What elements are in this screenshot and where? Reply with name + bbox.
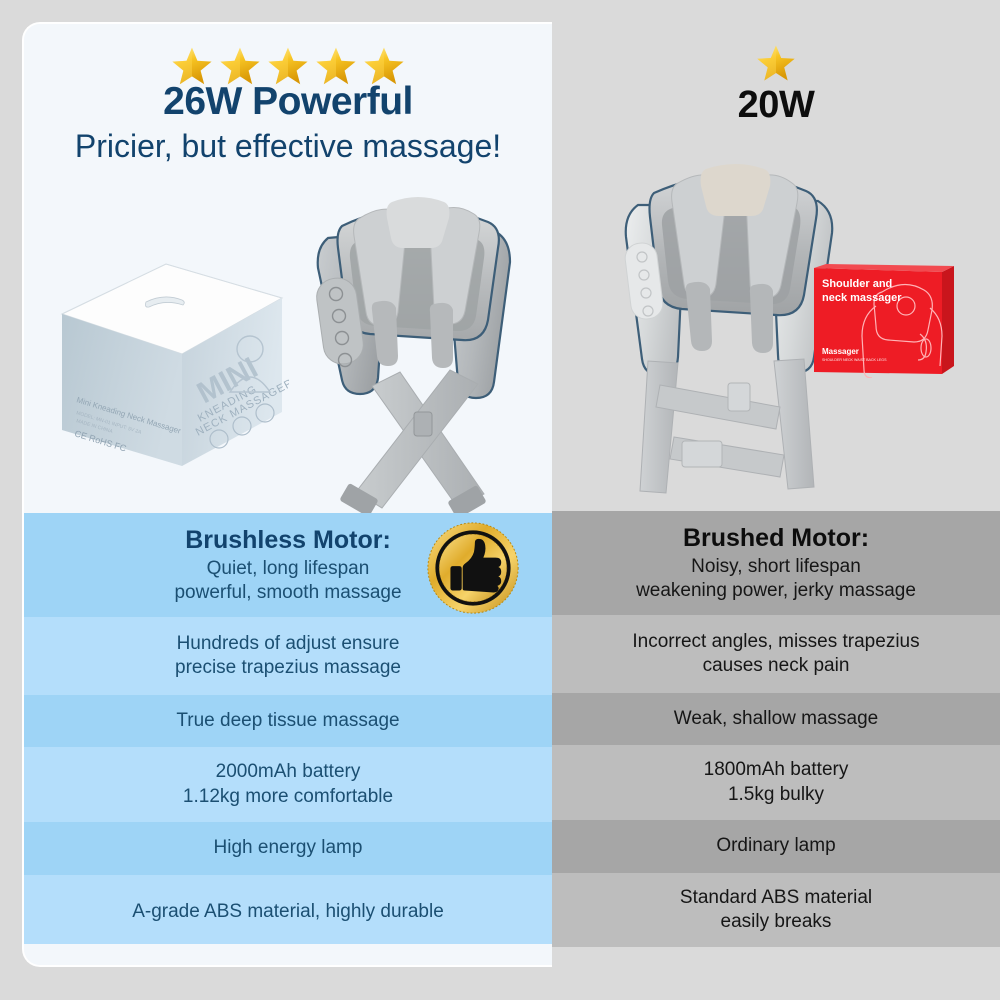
left-product-card: 26W Powerful Pricier, but effective mass… [22, 22, 552, 967]
left-massager-device [264, 174, 552, 514]
left-power-title: 26W Powerful [24, 80, 552, 124]
table-row: 1800mAh battery 1.5kg bulky [552, 745, 1000, 820]
row-line: powerful, smooth massage [174, 581, 401, 605]
right-retail-box: Shoulder and neck massager Massager SHOU… [810, 262, 958, 378]
table-row: Ordinary lamp [552, 820, 1000, 873]
row-line: Ordinary lamp [716, 834, 835, 858]
row-line: High energy lamp [214, 836, 363, 860]
row-line: weakening power, jerky massage [636, 579, 916, 603]
left-product-column: 26W Powerful Pricier, but effective mass… [0, 0, 552, 1000]
right-hero-area: 20W [552, 22, 1000, 511]
left-hero-area: 26W Powerful Pricier, but effective mass… [24, 24, 552, 513]
row-line: Hundreds of adjust ensure [177, 632, 400, 656]
red-box-footer: Massager [822, 347, 859, 357]
table-row: A-grade ABS material, highly durable [24, 875, 552, 949]
row-line: 1.5kg bulky [728, 783, 824, 807]
row-line: Standard ABS material [680, 886, 872, 910]
right-feature-table: Brushed Motor: Noisy, short lifespan wea… [552, 511, 1000, 947]
right-power-title: 20W [552, 84, 1000, 127]
left-card-bottom-strip [24, 944, 552, 965]
thumbs-up-badge-icon [426, 521, 520, 615]
row-line: Weak, shallow massage [674, 707, 879, 731]
row-line: Noisy, short lifespan [691, 555, 861, 579]
row-line: A-grade ABS material, highly durable [132, 900, 444, 924]
star-icon [754, 42, 798, 86]
table-row: Hundreds of adjust ensure precise trapez… [24, 617, 552, 695]
row-line: 1800mAh battery [704, 758, 849, 782]
table-row: Incorrect angles, misses trapezius cause… [552, 615, 1000, 693]
table-row: High energy lamp [24, 822, 552, 875]
row-heading: Brushed Motor: [683, 523, 869, 553]
comparison-infographic: 26W Powerful Pricier, but effective mass… [0, 0, 1000, 1000]
red-box-footer-small: SHOULDER NECK WAIST BACK LEGS [822, 358, 887, 362]
left-subtitle: Pricier, but effective massage! [24, 128, 552, 165]
row-line: easily breaks [721, 910, 832, 934]
row-line: True deep tissue massage [176, 709, 399, 733]
red-box-headline-line1: Shoulder and [822, 278, 892, 290]
row-line: 2000mAh battery [216, 760, 361, 784]
row-line: precise trapezius massage [175, 656, 401, 680]
table-row: 2000mAh battery 1.12kg more comfortable [24, 747, 552, 822]
table-row: True deep tissue massage [24, 695, 552, 747]
red-box-headline-line2: neck massager [822, 292, 902, 304]
row-line: Incorrect angles, misses trapezius [632, 630, 919, 654]
table-row: Weak, shallow massage [552, 693, 1000, 745]
table-row: Brushed Motor: Noisy, short lifespan wea… [552, 511, 1000, 615]
row-heading: Brushless Motor: [185, 525, 391, 555]
row-line: 1.12kg more comfortable [183, 785, 393, 809]
left-retail-box: MINI KNEADING NECK MASSAGER Mini Kneadin… [54, 254, 289, 479]
row-line: Quiet, long lifespan [207, 557, 370, 581]
table-row: Standard ABS material easily breaks [552, 873, 1000, 947]
right-product-column: 20W [552, 0, 1000, 1000]
row-line: causes neck pain [703, 654, 850, 678]
right-star-rating [552, 42, 1000, 86]
red-box-headline: Shoulder and neck massager [822, 278, 902, 306]
